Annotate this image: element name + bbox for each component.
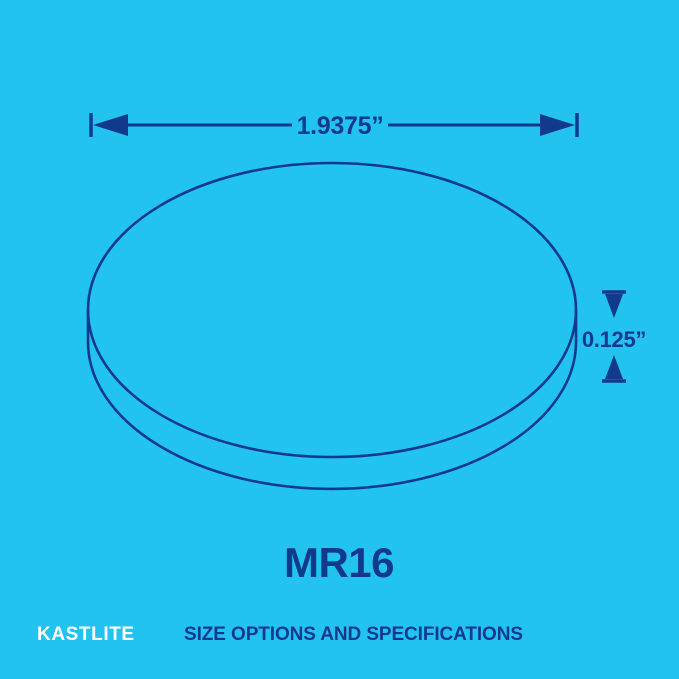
disc-body-group <box>88 163 576 489</box>
diagram-canvas: 1.9375” 0.125” MR16 K <box>0 0 679 679</box>
thickness-dimension-label: 0.125” <box>582 327 646 352</box>
footer-caption: SIZE OPTIONS AND SPECIFICATIONS <box>184 624 523 645</box>
width-dimension-left-arrowhead <box>93 114 128 136</box>
brand-wordmark: KASTLITE <box>37 624 135 645</box>
thickness-dimension-group: 0.125” <box>582 292 646 381</box>
width-dimension-label: 1.9375” <box>297 112 384 140</box>
width-dimension-right-arrowhead <box>540 114 575 136</box>
disc-top-face <box>88 163 576 457</box>
thickness-dimension-top-arrowhead <box>605 294 623 318</box>
width-dimension-group: 1.9375” <box>91 112 577 140</box>
thickness-dimension-bottom-arrowhead <box>605 355 623 379</box>
part-label: MR16 <box>284 539 394 586</box>
spec-diagram: 1.9375” 0.125” MR16 K <box>0 0 679 679</box>
